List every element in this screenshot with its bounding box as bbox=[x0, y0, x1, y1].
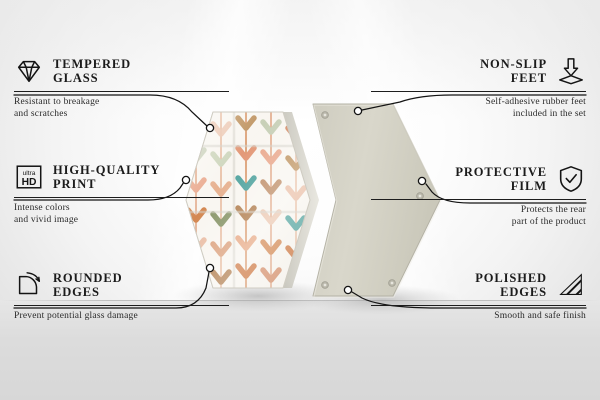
infographic-canvas: TEMPERED GLASS Resistant to breakage and… bbox=[0, 0, 600, 400]
hatched-triangle-icon bbox=[556, 270, 586, 300]
divider bbox=[14, 197, 229, 198]
feature-title: ROUNDED EDGES bbox=[53, 271, 123, 299]
feature-header: TEMPERED GLASS bbox=[14, 56, 229, 86]
divider bbox=[371, 199, 586, 200]
feature-desc-line1: Resistant to breakage bbox=[14, 97, 229, 109]
feature-desc-line2: included in the set bbox=[371, 109, 586, 121]
feature-header: PROTECTIVE FILM bbox=[371, 164, 586, 194]
feature-desc-line1: Intense colors bbox=[14, 203, 229, 215]
divider bbox=[14, 305, 229, 306]
feature-tempered-glass[interactable]: TEMPERED GLASS Resistant to breakage and… bbox=[14, 56, 229, 120]
feature-title: NON-SLIP FEET bbox=[480, 57, 547, 85]
divider bbox=[371, 305, 586, 306]
feature-header: POLISHED EDGES bbox=[371, 270, 586, 300]
diamond-icon bbox=[14, 56, 44, 86]
feature-non-slip-feet[interactable]: NON-SLIP FEET Self-adhesive rubber feet … bbox=[371, 56, 586, 120]
arrow-onto-pad-icon bbox=[556, 56, 586, 86]
ultra-hd-icon: ultra HD bbox=[14, 162, 44, 192]
feature-title: TEMPERED GLASS bbox=[53, 57, 131, 85]
feature-rounded-edges[interactable]: ROUNDED EDGES Prevent potential glass da… bbox=[14, 270, 229, 323]
feature-title: PROTECTIVE FILM bbox=[455, 165, 547, 193]
feature-high-quality-print[interactable]: ultra HD HIGH-QUALITY PRINT Intense colo… bbox=[14, 162, 229, 226]
feature-desc-line1: Protects the rear bbox=[371, 205, 586, 217]
feature-desc-line2: and vivid image bbox=[14, 215, 229, 227]
feature-protective-film[interactable]: PROTECTIVE FILM Protects the rear part o… bbox=[371, 164, 586, 228]
feature-header: ROUNDED EDGES bbox=[14, 270, 229, 300]
divider bbox=[371, 91, 586, 92]
feature-desc-line1: Self-adhesive rubber feet bbox=[371, 97, 586, 109]
feature-polished-edges[interactable]: POLISHED EDGES Smooth and safe finish bbox=[371, 270, 586, 323]
feature-desc-line1: Prevent potential glass damage bbox=[14, 311, 229, 323]
shield-check-icon bbox=[556, 164, 586, 194]
feature-desc-line2: and scratches bbox=[14, 109, 229, 121]
feature-title: POLISHED EDGES bbox=[475, 271, 547, 299]
svg-text:HD: HD bbox=[22, 177, 37, 188]
feature-header: NON-SLIP FEET bbox=[371, 56, 586, 86]
feature-desc-line1: Smooth and safe finish bbox=[371, 311, 586, 323]
feature-header: ultra HD HIGH-QUALITY PRINT bbox=[14, 162, 229, 192]
rounded-corner-icon bbox=[14, 270, 44, 300]
feature-desc-line2: part of the product bbox=[371, 217, 586, 229]
divider bbox=[14, 91, 229, 92]
feature-title: HIGH-QUALITY PRINT bbox=[53, 163, 160, 191]
